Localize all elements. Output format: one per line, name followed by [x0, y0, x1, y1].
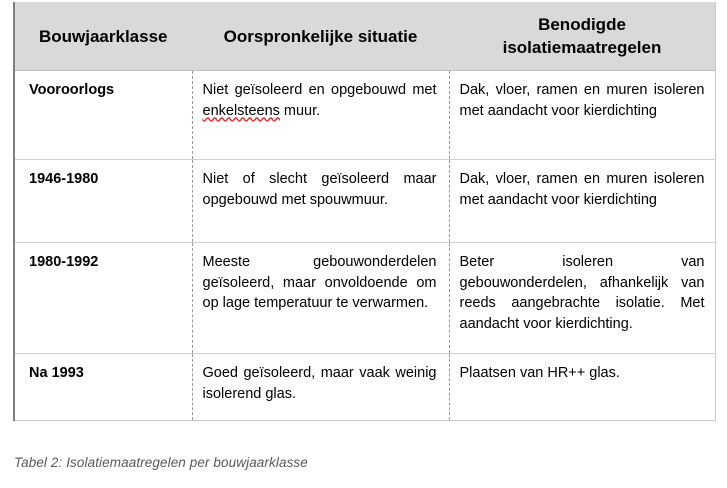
cell-oorspronkelijke-situatie: Niet geïsoleerd en opgebouwd met enkelst…	[192, 71, 449, 160]
table-container: Bouwjaarklasse Oorspronkelijke situatie …	[13, 2, 714, 421]
cell-bouwjaarklasse: Na 1993	[14, 354, 192, 421]
isolatiemaatregelen-table: Bouwjaarklasse Oorspronkelijke situatie …	[13, 2, 716, 421]
column-header-bouwjaarklasse: Bouwjaarklasse	[14, 3, 192, 71]
misspelled-word: enkelsteens	[203, 103, 280, 119]
cell-oorspronkelijke-situatie: Meeste gebouwonderdelen geïsoleerd, maar…	[192, 243, 449, 354]
column-header-oorspronkelijke-situatie: Oorspronkelijke situatie	[192, 3, 449, 71]
table-caption: Tabel 2: Isolatiemaatregelen per bouwjaa…	[14, 455, 308, 470]
cell-benodigde-isolatiemaatregelen: Plaatsen van HR++ glas.	[449, 354, 715, 421]
table-row: Vooroorlogs Niet geïsoleerd en opgebouwd…	[14, 71, 715, 160]
table-body: Vooroorlogs Niet geïsoleerd en opgebouwd…	[14, 71, 715, 421]
column-header-benodigde-isolatiemaatregelen: Benodigde isolatiemaatregelen	[449, 3, 715, 71]
cell-bouwjaarklasse: 1980-1992	[14, 243, 192, 354]
table-row: Na 1993 Goed geïsoleerd, maar vaak weini…	[14, 354, 715, 421]
cell-benodigde-isolatiemaatregelen: Beter isoleren van gebouwonderdelen, afh…	[449, 243, 715, 354]
table-header: Bouwjaarklasse Oorspronkelijke situatie …	[14, 3, 715, 71]
table-row: 1946-1980 Niet of slecht geïsoleerd maar…	[14, 160, 715, 243]
cell-bouwjaarklasse: 1946-1980	[14, 160, 192, 243]
cell-oorspronkelijke-situatie: Niet of slecht geïsoleerd maar opgebouwd…	[192, 160, 449, 243]
table-header-row: Bouwjaarklasse Oorspronkelijke situatie …	[14, 3, 715, 71]
table-row: 1980-1992 Meeste gebouwonderdelen geïsol…	[14, 243, 715, 354]
situatie-text-pre: Niet geïsoleerd en opgebouwd met	[203, 82, 437, 98]
cell-benodigde-isolatiemaatregelen: Dak, vloer, ramen en muren isoleren met …	[449, 160, 715, 243]
cell-oorspronkelijke-situatie: Goed geïsoleerd, maar vaak weinig isoler…	[192, 354, 449, 421]
situatie-text-post: muur.	[280, 103, 320, 119]
cell-benodigde-isolatiemaatregelen: Dak, vloer, ramen en muren isoleren met …	[449, 71, 715, 160]
cell-bouwjaarklasse: Vooroorlogs	[14, 71, 192, 160]
document-page: Bouwjaarklasse Oorspronkelijke situatie …	[0, 0, 727, 488]
